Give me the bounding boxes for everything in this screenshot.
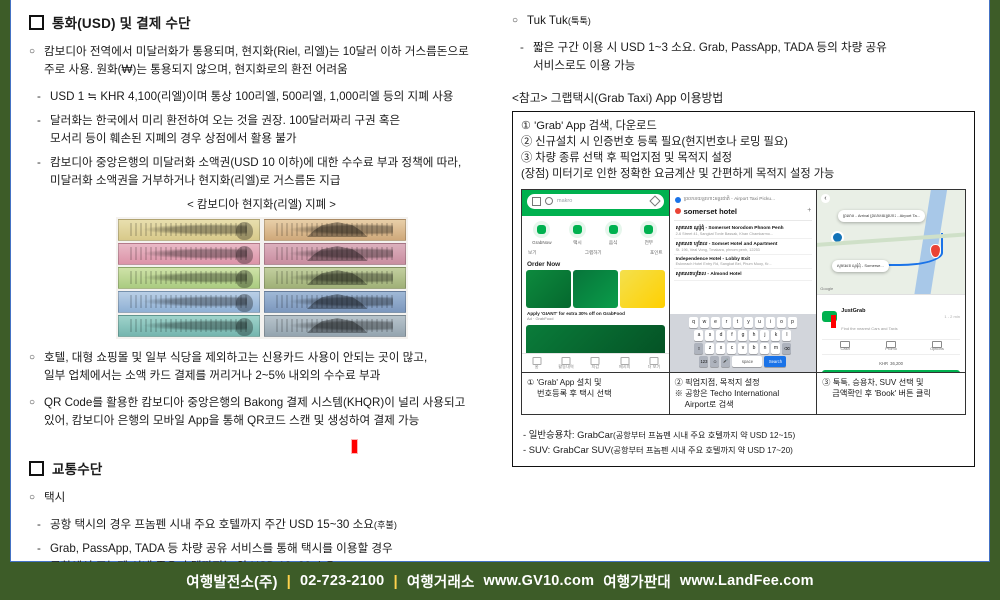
nav-more[interactable]: 더 보기 (639, 354, 668, 372)
promo-button[interactable]: Promo (868, 340, 914, 354)
key-c[interactable]: c (727, 343, 736, 354)
dash-bullet-icon: - (37, 540, 50, 558)
banknote-back (264, 243, 406, 265)
search-panel: ព្រលានយន្តហោះអន្តរជាតិ - Airport Taxi Pi… (670, 190, 817, 281)
banknote-back (264, 291, 406, 313)
fare-display: KHR 36,200 (822, 358, 960, 367)
footer-divider: | (287, 573, 291, 590)
taxi-title: 택시 (44, 489, 494, 507)
screenshot-destination-search: ព្រលានយន្តហោះអន្តរជាតិ - Airport Taxi Pi… (670, 190, 818, 372)
key-o[interactable]: o (777, 317, 786, 328)
grab-promo-sub: Ad · GrabFood (522, 316, 669, 323)
bullet-small-notes-policy: - 캄보디아 중앙은행의 미달러화 소액권(USD 10 이하)에 대한 수수료… (29, 154, 494, 190)
key-e[interactable]: e (711, 317, 720, 328)
caption-step-2: ② 픽업지점, 목적지 설정 ※ 공항은 Techo International… (670, 373, 818, 414)
key-a[interactable]: a (694, 330, 703, 341)
fare-currency: KHR (879, 361, 888, 366)
document-page: 통화(USD) 및 결제 수단 ○ 캄보디아 전역에서 미달러화가 통용되며, … (10, 0, 990, 562)
grab-secondary-row: 보기 그랩하기 포인트 (522, 248, 669, 258)
qr-bakong-line2: 있어, 캄보디아 은행의 모바일 App을 통해 QR코드 스캔 및 생성하여 … (44, 414, 419, 427)
key-i[interactable]: i (766, 317, 775, 328)
destination-row[interactable]: somerset hotel + (674, 205, 813, 218)
section-title-currency: 통화(USD) 및 결제 수단 (29, 12, 494, 32)
grab-row2-left: 보기 (528, 250, 536, 256)
currency-usage-line2: 주로 사용. 원화(₩)는 통용되지 않으며, 현지화로의 환전 어려움 (44, 63, 348, 76)
grab-step-1: ① 'Grab' App 검색, 다운로드 (521, 119, 966, 135)
arrival-chip[interactable]: ព្រលាន - Arrival ព្រលានយន្តហោះ - Airport… (838, 210, 925, 222)
exchange-rate-text: USD 1 ≒ KHR 4,100(리엘)이며 통상 100리엘, 500리엘,… (50, 88, 494, 106)
pickup-pin-icon (675, 197, 681, 203)
red-highlight-marker (831, 315, 836, 328)
bullet-currency-usage: ○ 캄보디아 전역에서 미달러화가 통용되며, 현지화(Riel, 리엘)는 1… (29, 43, 494, 79)
destination-chip[interactable]: សូមសេត ណូរ៉ូដុំ - Somerse... (832, 260, 889, 272)
banknote-front (118, 267, 260, 289)
key-d[interactable]: d (716, 330, 725, 341)
pickup-text: ព្រលានយន្តហោះអន្តរជាតិ - Airport Taxi Pi… (684, 196, 775, 203)
book-button[interactable]: Book (822, 370, 960, 372)
qr-bakong-line1: QR Code를 활용한 캄보디아 중앙은행의 Bakong 결제 시스템(KH… (44, 396, 465, 409)
left-column: 통화(USD) 및 결제 수단 ○ 캄보디아 전역에서 미달러화가 통용되며, … (11, 0, 502, 561)
map-view[interactable]: ព្រលាន - Arrival ព្រលានយន្តហោះ - Airport… (817, 190, 965, 294)
keyboard-row-4: 123 ☺ 🎤 space Search (672, 356, 815, 367)
pickup-row[interactable]: ព្រលានយន្តហោះអន្តរជាតិ - Airport Taxi Pi… (674, 194, 813, 205)
ride-option-desc: Find the nearest Cars and Taxis (841, 326, 897, 331)
dash-bullet-icon: - (520, 39, 533, 57)
nav-wallet[interactable]: 지갑 (581, 354, 610, 372)
grab-order-now-label: Order Now (522, 258, 669, 270)
bullet-card-acceptance: ○ 호텔, 대형 쇼핑몰 및 일부 식당을 제외하고는 신용카드 사용이 안되는… (29, 349, 494, 385)
key-h[interactable]: h (749, 330, 758, 341)
key-y[interactable]: y (744, 317, 753, 328)
currency-usage-line1: 캄보디아 전역에서 미달러화가 통용되며, 현지화(Riel, 리엘)는 10달… (44, 45, 469, 58)
banknote-front (118, 315, 260, 337)
search-result-item[interactable]: សូមសេតហូតែល - Almond Hotel (674, 269, 813, 281)
grab-row2-right: 포인트 (650, 250, 663, 256)
microphone-icon[interactable]: 🎤 (721, 356, 730, 367)
circle-bullet-icon: ○ (512, 12, 527, 30)
promo-banner[interactable] (620, 270, 665, 308)
banknote-figure-caption: < 캄보디아 현지화(리엘) 지폐 > (29, 196, 494, 212)
grab-step-2: ② 신규설치 시 인증번호 등록 필요(현지번호나 로밍 필요) (521, 135, 966, 151)
card-acceptance-line1: 호텔, 대형 쇼핑몰 및 일부 식당을 제외하고는 신용카드 사용이 안되는 곳… (44, 351, 427, 364)
banknote-back (264, 315, 406, 337)
screenshot-booking-map: ព្រលាន - Arrival ព្រលានយន្តហោះ - Airport… (817, 190, 965, 372)
grab-home-header: makro (522, 190, 669, 216)
key-v[interactable]: v (738, 343, 747, 354)
nav-activity[interactable]: 활동내역 (551, 354, 580, 372)
booking-card: JustGrab Find the nearest Cars and Taxis… (817, 294, 965, 372)
page-footer: 여행발전소(주) | 02-723-2100 | 여행거래소 www.GV10.… (0, 562, 1000, 600)
grab-row2-mid: 그랩하기 (585, 250, 602, 256)
key-q[interactable]: q (689, 317, 698, 328)
key-r[interactable]: r (722, 317, 731, 328)
banknote-front (118, 219, 260, 241)
grid-icon (640, 221, 657, 238)
keyboard-row-3: ⇧ z x c v b n m ⌫ (672, 343, 815, 354)
grab-promo-caption: Apply 'GIANT' for extra 30% off on GrabF… (522, 308, 669, 316)
bullet-tuktuk-fare: - 짧은 구간 이용 시 USD 1~3 소요. Grab, PassApp, … (512, 39, 975, 75)
rideshare-fare-line1: Grab, PassApp, TADA 등 차량 공유 서비스를 통해 택시를 … (50, 542, 393, 555)
grab-steps: ① 'Grab' App 검색, 다운로드 ② 신규설치 시 인증번호 등록 필… (521, 119, 966, 183)
taxi-icon (569, 221, 586, 238)
pickup-marker-icon (831, 231, 844, 244)
fare-note-sedan: - 일반승용차: GrabCar(공항부터 프놈펜 시내 주요 호텔까지 약 U… (523, 427, 966, 442)
airport-taxi-fare-note: (후불) (374, 520, 397, 530)
section-title-transport-text: 교통수단 (52, 458, 102, 478)
dash-bullet-icon: - (37, 88, 50, 106)
portrait-icon (236, 270, 253, 288)
grab-step-advantage: (장점) 미터기로 인한 정확한 요금계산 및 간편하게 목적지 설정 가능 (521, 167, 966, 183)
circle-bullet-icon: ○ (29, 489, 44, 507)
key-x[interactable]: x (716, 343, 725, 354)
search-result-item[interactable]: សូមសេត ណូរ៉ូដុំ - Somerset Norodom Phnom… (674, 223, 813, 239)
emoji-icon[interactable]: ☺ (710, 356, 719, 367)
key-n[interactable]: n (760, 343, 769, 354)
virtual-keyboard: q w e r t y u i o p (670, 314, 817, 372)
temple-icon (307, 222, 369, 237)
banknote-figure (29, 217, 494, 339)
ride-option-name: JustGrab (841, 308, 865, 314)
scan-icon (532, 197, 541, 206)
key-w[interactable]: w (700, 317, 709, 328)
divider (674, 220, 813, 221)
grab-search-bar[interactable]: makro (527, 194, 664, 209)
promo-banner[interactable] (526, 270, 571, 308)
search-key[interactable]: Search (764, 356, 786, 367)
portrait-icon (236, 222, 253, 240)
circle-bullet-icon: ○ (29, 349, 44, 367)
banknote-column-front (118, 219, 260, 337)
key-s[interactable]: s (705, 330, 714, 341)
key-p[interactable]: p (788, 317, 797, 328)
banknote-front (118, 243, 260, 265)
grab-fare-notes: - 일반승용차: GrabCar(공항부터 프놈펜 시내 주요 호텔까지 약 U… (521, 427, 966, 457)
grab-promo-banners (522, 270, 669, 308)
grabnow-icon (533, 221, 550, 238)
backspace-key[interactable]: ⌫ (782, 343, 791, 354)
portrait-icon (236, 246, 253, 264)
footer-divider: | (393, 573, 397, 590)
grab-service-icons: GrabNow 택시 음식 전부 (522, 216, 669, 248)
caption-step-1: ① 'Grab' App 설치 및 번호등록 후 택시 선택 (522, 373, 670, 414)
bullet-tuktuk: ○ Tuk Tuk(툭툭) (512, 12, 975, 30)
dollar-advice-line1: 달러화는 한국에서 미리 환전하여 오는 것을 권장. 100달러짜리 구권 혹… (50, 114, 400, 127)
grab-service-all[interactable]: 전부 (632, 221, 666, 246)
key-t[interactable]: t (733, 317, 742, 328)
portrait-icon (236, 318, 253, 336)
bullet-taxi: ○ 택시 (29, 489, 494, 507)
ride-option-justgrab[interactable]: JustGrab Find the nearest Cars and Taxis… (822, 299, 960, 335)
promo-banner[interactable] (573, 270, 618, 308)
dollar-advice-line2: 모서리 등이 훼손된 지폐의 경우 상점에서 활용 불가 (50, 132, 297, 145)
key-m[interactable]: m (771, 343, 780, 354)
red-cursor-marker (351, 439, 358, 454)
bullet-airport-taxi-fare: - 공항 택시의 경우 프놈펜 시내 주요 호텔까지 주간 USD 15~30 … (29, 516, 494, 534)
footer-brand-1: 여행거래소 (407, 571, 475, 592)
dash-bullet-icon: - (37, 154, 50, 172)
grab-service-taxi[interactable]: 택시 (560, 221, 594, 246)
key-b[interactable]: b (749, 343, 758, 354)
tuktuk-fare-line2: 서비스로도 이용 가능 (533, 59, 635, 72)
footer-company: 여행발전소(주) (186, 571, 277, 592)
dash-bullet-icon: - (37, 516, 50, 534)
airport-taxi-fare-text: 공항 택시의 경우 프놈펜 시내 주요 호텔까지 주간 USD 15~30 소요 (50, 518, 374, 531)
tuktuk-fare-line1: 짧은 구간 이용 시 USD 1~3 소요. Grab, PassApp, TA… (533, 41, 887, 54)
temple-icon (307, 294, 369, 309)
banknote-column-back (264, 219, 406, 337)
heart-icon (649, 195, 660, 206)
space-key[interactable]: space (732, 356, 762, 367)
grab-bottom-nav: 홈 활동내역 지갑 메시지 더 보기 (522, 353, 669, 372)
keyboard-row-2: a s d f g h j k l (672, 330, 815, 341)
key-k[interactable]: k (771, 330, 780, 341)
card-acceptance-line2: 일부 업체에서는 소액 카드 결제를 꺼리거나 2~5% 내외의 수수료 부과 (44, 369, 380, 382)
banknote-back (264, 219, 406, 241)
screenshot-captions: ① 'Grab' App 설치 및 번호등록 후 택시 선택 ② 픽업지점, 목… (521, 373, 966, 415)
footer-site-2[interactable]: www.LandFee.com (680, 573, 814, 589)
grab-service-food[interactable]: 음식 (596, 221, 630, 246)
payment-cash-button[interactable]: Cash (822, 340, 868, 354)
footer-brand-2: 여행가판대 (603, 571, 671, 592)
grab-search-placeholder: makro (557, 198, 572, 204)
key-g[interactable]: g (738, 330, 747, 341)
key-j[interactable]: j (760, 330, 769, 341)
key-f[interactable]: f (727, 330, 736, 341)
section-title-currency-text: 통화(USD) 및 결제 수단 (52, 12, 191, 32)
small-notes-policy-line2: 미달러화 소액권을 거부하거나 현지화(리엘)로 거스름돈 지급 (50, 174, 341, 187)
grab-guide-box: ① 'Grab' App 검색, 다운로드 ② 신규설치 시 인증번호 등록 필… (512, 111, 975, 467)
destination-pin-icon (675, 208, 681, 214)
banknote-back (264, 267, 406, 289)
grab-service-grabnow[interactable]: GrabNow (525, 221, 559, 246)
square-bullet-icon (29, 15, 44, 30)
banknote-image (116, 217, 408, 339)
numeric-key[interactable]: 123 (699, 356, 708, 367)
search-icon (545, 197, 553, 205)
temple-icon (307, 270, 369, 285)
tuktuk-title-note: (툭툭) (568, 16, 591, 26)
section-title-transport: 교통수단 (29, 458, 494, 478)
nav-home[interactable]: 홈 (522, 354, 551, 372)
banknote-front (118, 291, 260, 313)
key-z[interactable]: z (705, 343, 714, 354)
right-column: ○ Tuk Tuk(툭툭) - 짧은 구간 이용 시 USD 1~3 소요. G… (502, 0, 989, 561)
square-bullet-icon (29, 461, 44, 476)
food-icon (605, 221, 622, 238)
grab-step-3: ③ 차량 종류 선택 후 픽업지점 및 목적지 설정 (521, 151, 966, 167)
key-l[interactable]: l (782, 330, 791, 341)
circle-bullet-icon: ○ (29, 43, 44, 61)
grab-screenshots: makro GrabNow 택시 음식 전부 보기 그랩하기 (521, 189, 966, 373)
bullet-qr-bakong: ○ QR Code를 활용한 캄보디아 중앙은행의 Bakong 결제 시스템(… (29, 394, 494, 430)
screenshot-grab-home: makro GrabNow 택시 음식 전부 보기 그랩하기 (522, 190, 670, 372)
temple-icon (307, 318, 369, 333)
footer-site-1[interactable]: www.GV10.com (484, 573, 595, 589)
back-icon[interactable]: ‹ (821, 194, 829, 203)
tuktuk-title: Tuk Tuk (527, 14, 568, 27)
search-result-item[interactable]: Independence Hotel - Lobby Exit Eskneach… (674, 255, 813, 269)
small-notes-policy-line1: 캄보디아 중앙은행의 미달러화 소액권(USD 10 이하)에 대한 수수료 부… (50, 156, 461, 169)
grab-reference-title: <참고> 그랩택시(Grab Taxi) App 이용방법 (512, 89, 975, 106)
nav-messages[interactable]: 메시지 (610, 354, 639, 372)
dash-bullet-icon: - (37, 112, 50, 130)
map-attribution: Google (820, 286, 833, 291)
search-result-item[interactable]: សូមសេត ហូតែល - Somset Hotel and Apartmen… (674, 239, 813, 255)
keyboard-row-1: q w e r t y u i o p (672, 317, 815, 328)
fare-note-suv: - SUV: GrabCar SUV(공항부터 프놈펜 시내 주요 호텔까지 약… (523, 442, 966, 457)
caption-step-3: ③ 툭툭, 승용차, SUV 선택 및 금액확인 후 'Book' 버튼 클릭 (817, 373, 965, 414)
footer-phone: 02-723-2100 (300, 573, 384, 589)
bullet-dollar-advice: - 달러화는 한국에서 미리 환전하여 오는 것을 권장. 100달러짜리 구권… (29, 112, 494, 148)
plus-icon[interactable]: + (807, 207, 811, 214)
ride-option-eta: 1 - 2 min (944, 314, 960, 319)
portrait-icon (236, 294, 253, 312)
bullet-exchange-rate: - USD 1 ≒ KHR 4,100(리엘)이며 통상 100리엘, 500리… (29, 88, 494, 106)
booking-options-row: Cash Promo Options (822, 339, 960, 355)
destination-input[interactable]: somerset hotel (684, 207, 737, 216)
options-button[interactable]: Options (914, 340, 960, 354)
circle-bullet-icon: ○ (29, 394, 44, 412)
fare-amount: 36,200 (890, 361, 903, 366)
temple-icon (307, 246, 369, 261)
shift-key[interactable]: ⇧ (694, 343, 703, 354)
key-u[interactable]: u (755, 317, 764, 328)
